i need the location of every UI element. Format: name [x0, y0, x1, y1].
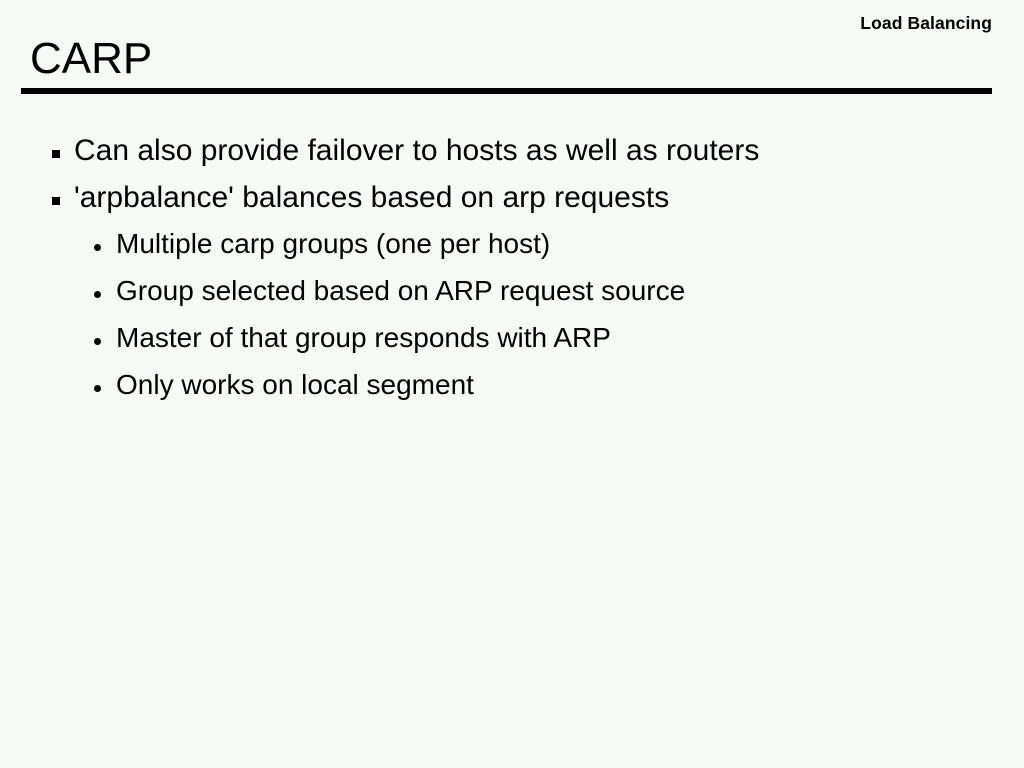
- header-title-text: Load Balancing: [860, 13, 992, 34]
- list-item: Multiple carp groups (one per host): [0, 226, 1024, 273]
- list-item: Group selected based on ARP request sour…: [0, 273, 1024, 320]
- page-title: CARP: [30, 36, 152, 82]
- slide-body-bullet-list: Can also provide failover to hosts as we…: [0, 132, 1024, 414]
- presentation-slide: Load Balancing CARP Can also provide fai…: [0, 0, 1024, 768]
- square-bullet-icon: [52, 197, 60, 205]
- slide-header: Load Balancing: [860, 13, 992, 34]
- dot-bullet-icon: [94, 291, 101, 298]
- list-item: Only works on local segment: [0, 367, 1024, 414]
- list-item: Master of that group responds with ARP: [0, 320, 1024, 367]
- dot-bullet-icon: [94, 338, 101, 345]
- list-item: Can also provide failover to hosts as we…: [0, 132, 1024, 179]
- list-item-label: Can also provide failover to hosts as we…: [74, 132, 759, 170]
- dot-bullet-icon: [94, 244, 101, 251]
- list-item-label: 'arpbalance' balances based on arp reque…: [74, 179, 669, 217]
- list-item-label: Multiple carp groups (one per host): [116, 226, 550, 262]
- title-divider-rule: [21, 88, 992, 94]
- list-item: 'arpbalance' balances based on arp reque…: [0, 179, 1024, 226]
- list-item-label: Group selected based on ARP request sour…: [116, 273, 685, 309]
- square-bullet-icon: [52, 150, 60, 158]
- list-item-label: Master of that group responds with ARP: [116, 320, 611, 356]
- title-block: CARP: [30, 36, 152, 82]
- list-item-label: Only works on local segment: [116, 367, 474, 403]
- dot-bullet-icon: [94, 385, 101, 392]
